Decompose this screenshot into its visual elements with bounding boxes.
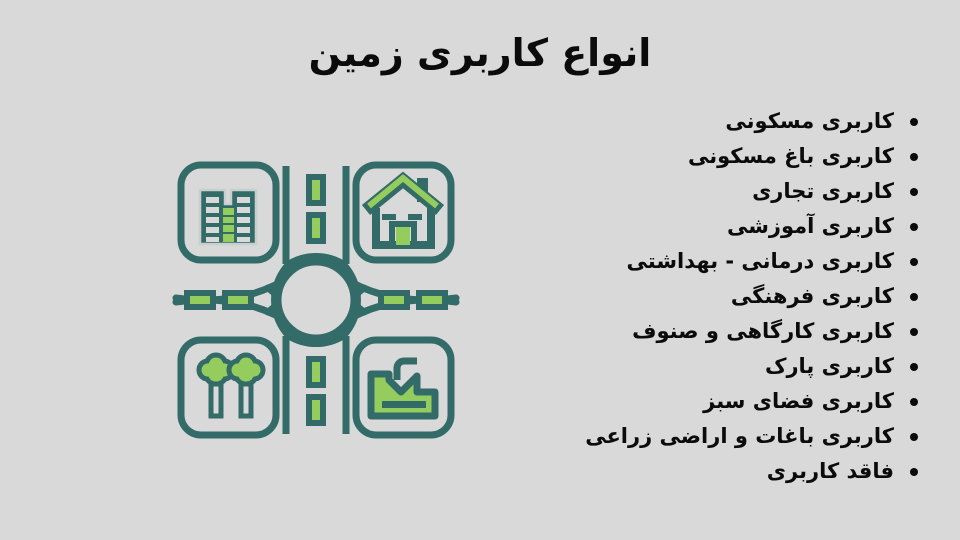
list-item: فاقد کاربری [320,454,920,489]
bullet-icon [910,433,918,441]
bullet-icon [910,153,918,161]
list-item: کاربری کارگاهی و صنوف [320,314,920,349]
list-item: کاربری باغ مسکونی [320,139,920,174]
list-item-label: کاربری فرهنگی [731,279,894,314]
list-item-label: کاربری فضای سبز [703,384,894,419]
bullet-icon [910,363,918,371]
bullet-icon [910,293,918,301]
bullet-icon [910,118,918,126]
land-use-types-list: کاربری مسکونی کاربری باغ مسکونی کاربری ت… [320,104,920,489]
list-item: کاربری فضای سبز [320,384,920,419]
quadrant-frame-bottom-left [181,340,276,435]
list-item: کاربری درمانی - بهداشتی [320,244,920,279]
list-item: کاربری تجاری [320,174,920,209]
bullet-icon [910,328,918,336]
list-item-label: کاربری پارک [765,349,894,384]
list-item-label: کاربری مسکونی [725,104,894,139]
list-item-label: کاربری باغات و اراضی زراعی [585,419,894,454]
list-item: کاربری آموزشی [320,209,920,244]
tree-right [229,355,263,416]
list-item: کاربری مسکونی [320,104,920,139]
bullet-icon [910,468,918,476]
bullet-icon [910,223,918,231]
quadrant-apartment-buildings [181,165,276,260]
bullet-icon [910,258,918,266]
list-item: کاربری فرهنگی [320,279,920,314]
quadrant-park-trees [181,340,276,435]
list-item-label: کاربری باغ مسکونی [688,139,894,174]
list-item-label: فاقد کاربری [767,454,894,489]
apartment-windows-center-green [223,208,234,242]
list-item-label: کاربری آموزشی [727,209,894,244]
tree-left [199,355,233,416]
list-item: کاربری پارک [320,349,920,384]
list-item-label: کاربری کارگاهی و صنوف [632,314,894,349]
bullet-icon [910,398,918,406]
bullet-icon [910,188,918,196]
list-item: کاربری باغات و اراضی زراعی [320,419,920,454]
list-item-label: کاربری تجاری [752,174,894,209]
slide-canvas: انواع کاربری زمین [0,0,960,540]
page-title: انواع کاربری زمین [0,30,960,78]
list-item-label: کاربری درمانی - بهداشتی [627,244,894,279]
